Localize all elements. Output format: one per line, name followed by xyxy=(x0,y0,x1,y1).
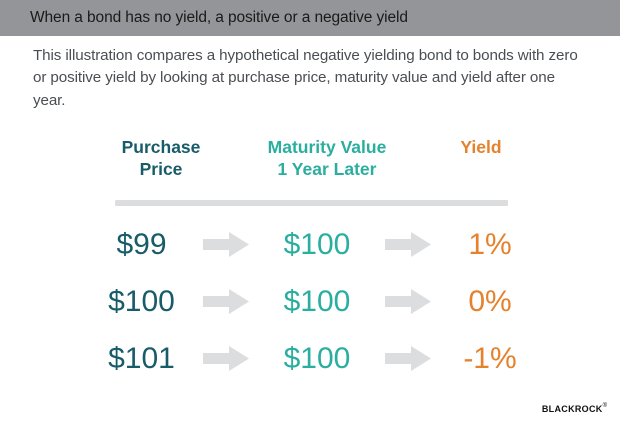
arrow-purchase-to-maturity xyxy=(193,232,259,257)
arrow-right-icon xyxy=(203,232,249,257)
registered-trademark-icon: ® xyxy=(603,403,607,409)
cell-purchase-price: $99 xyxy=(90,230,193,260)
cell-maturity-value: $100 xyxy=(259,287,375,317)
arrow-purchase-to-maturity xyxy=(193,346,259,371)
arrow-right-icon xyxy=(385,232,431,257)
page-title: When a bond has no yield, a positive or … xyxy=(30,9,408,27)
cell-yield: 0% xyxy=(441,287,539,317)
arrow-maturity-to-yield xyxy=(375,346,441,371)
cell-purchase-price: $100 xyxy=(90,287,193,317)
column-header-maturity-value-line1: Maturity Value xyxy=(232,136,422,158)
arrow-right-icon xyxy=(203,346,249,371)
intro-paragraph: This illustration compares a hypothetica… xyxy=(33,45,585,112)
comparison-table: Purchase Price Maturity Value 1 Year Lat… xyxy=(90,136,540,180)
arrow-purchase-to-maturity xyxy=(193,289,259,314)
header-divider xyxy=(115,200,508,206)
column-header-yield: Yield xyxy=(422,136,540,158)
blackrock-logo-text: BlackRock xyxy=(542,401,603,415)
cell-maturity-value: $100 xyxy=(259,344,375,374)
column-header-maturity-value-line2: 1 Year Later xyxy=(232,158,422,180)
cell-yield: 1% xyxy=(441,230,539,260)
arrow-maturity-to-yield xyxy=(375,232,441,257)
blackrock-logo: BlackRock® xyxy=(542,401,607,415)
column-header-purchase-price: Purchase Price xyxy=(90,136,232,180)
arrow-maturity-to-yield xyxy=(375,289,441,314)
infographic-panel: When a bond has no yield, a positive or … xyxy=(0,0,620,423)
table-column-headers: Purchase Price Maturity Value 1 Year Lat… xyxy=(90,136,540,180)
cell-purchase-price: $101 xyxy=(90,344,193,374)
column-header-purchase-price-line1: Purchase xyxy=(90,136,232,158)
header-band: When a bond has no yield, a positive or … xyxy=(0,0,620,36)
column-header-maturity-value: Maturity Value 1 Year Later xyxy=(232,136,422,180)
table-row: $101 $100 -1% xyxy=(90,330,540,387)
column-header-purchase-price-line2: Price xyxy=(90,158,232,180)
table-body: $99 $100 1% $100 xyxy=(90,216,540,387)
cell-maturity-value: $100 xyxy=(259,230,375,260)
cell-yield: -1% xyxy=(441,344,539,374)
arrow-right-icon xyxy=(385,289,431,314)
table-row: $99 $100 1% xyxy=(90,216,540,273)
arrow-right-icon xyxy=(203,289,249,314)
table-row: $100 $100 0% xyxy=(90,273,540,330)
arrow-right-icon xyxy=(385,346,431,371)
